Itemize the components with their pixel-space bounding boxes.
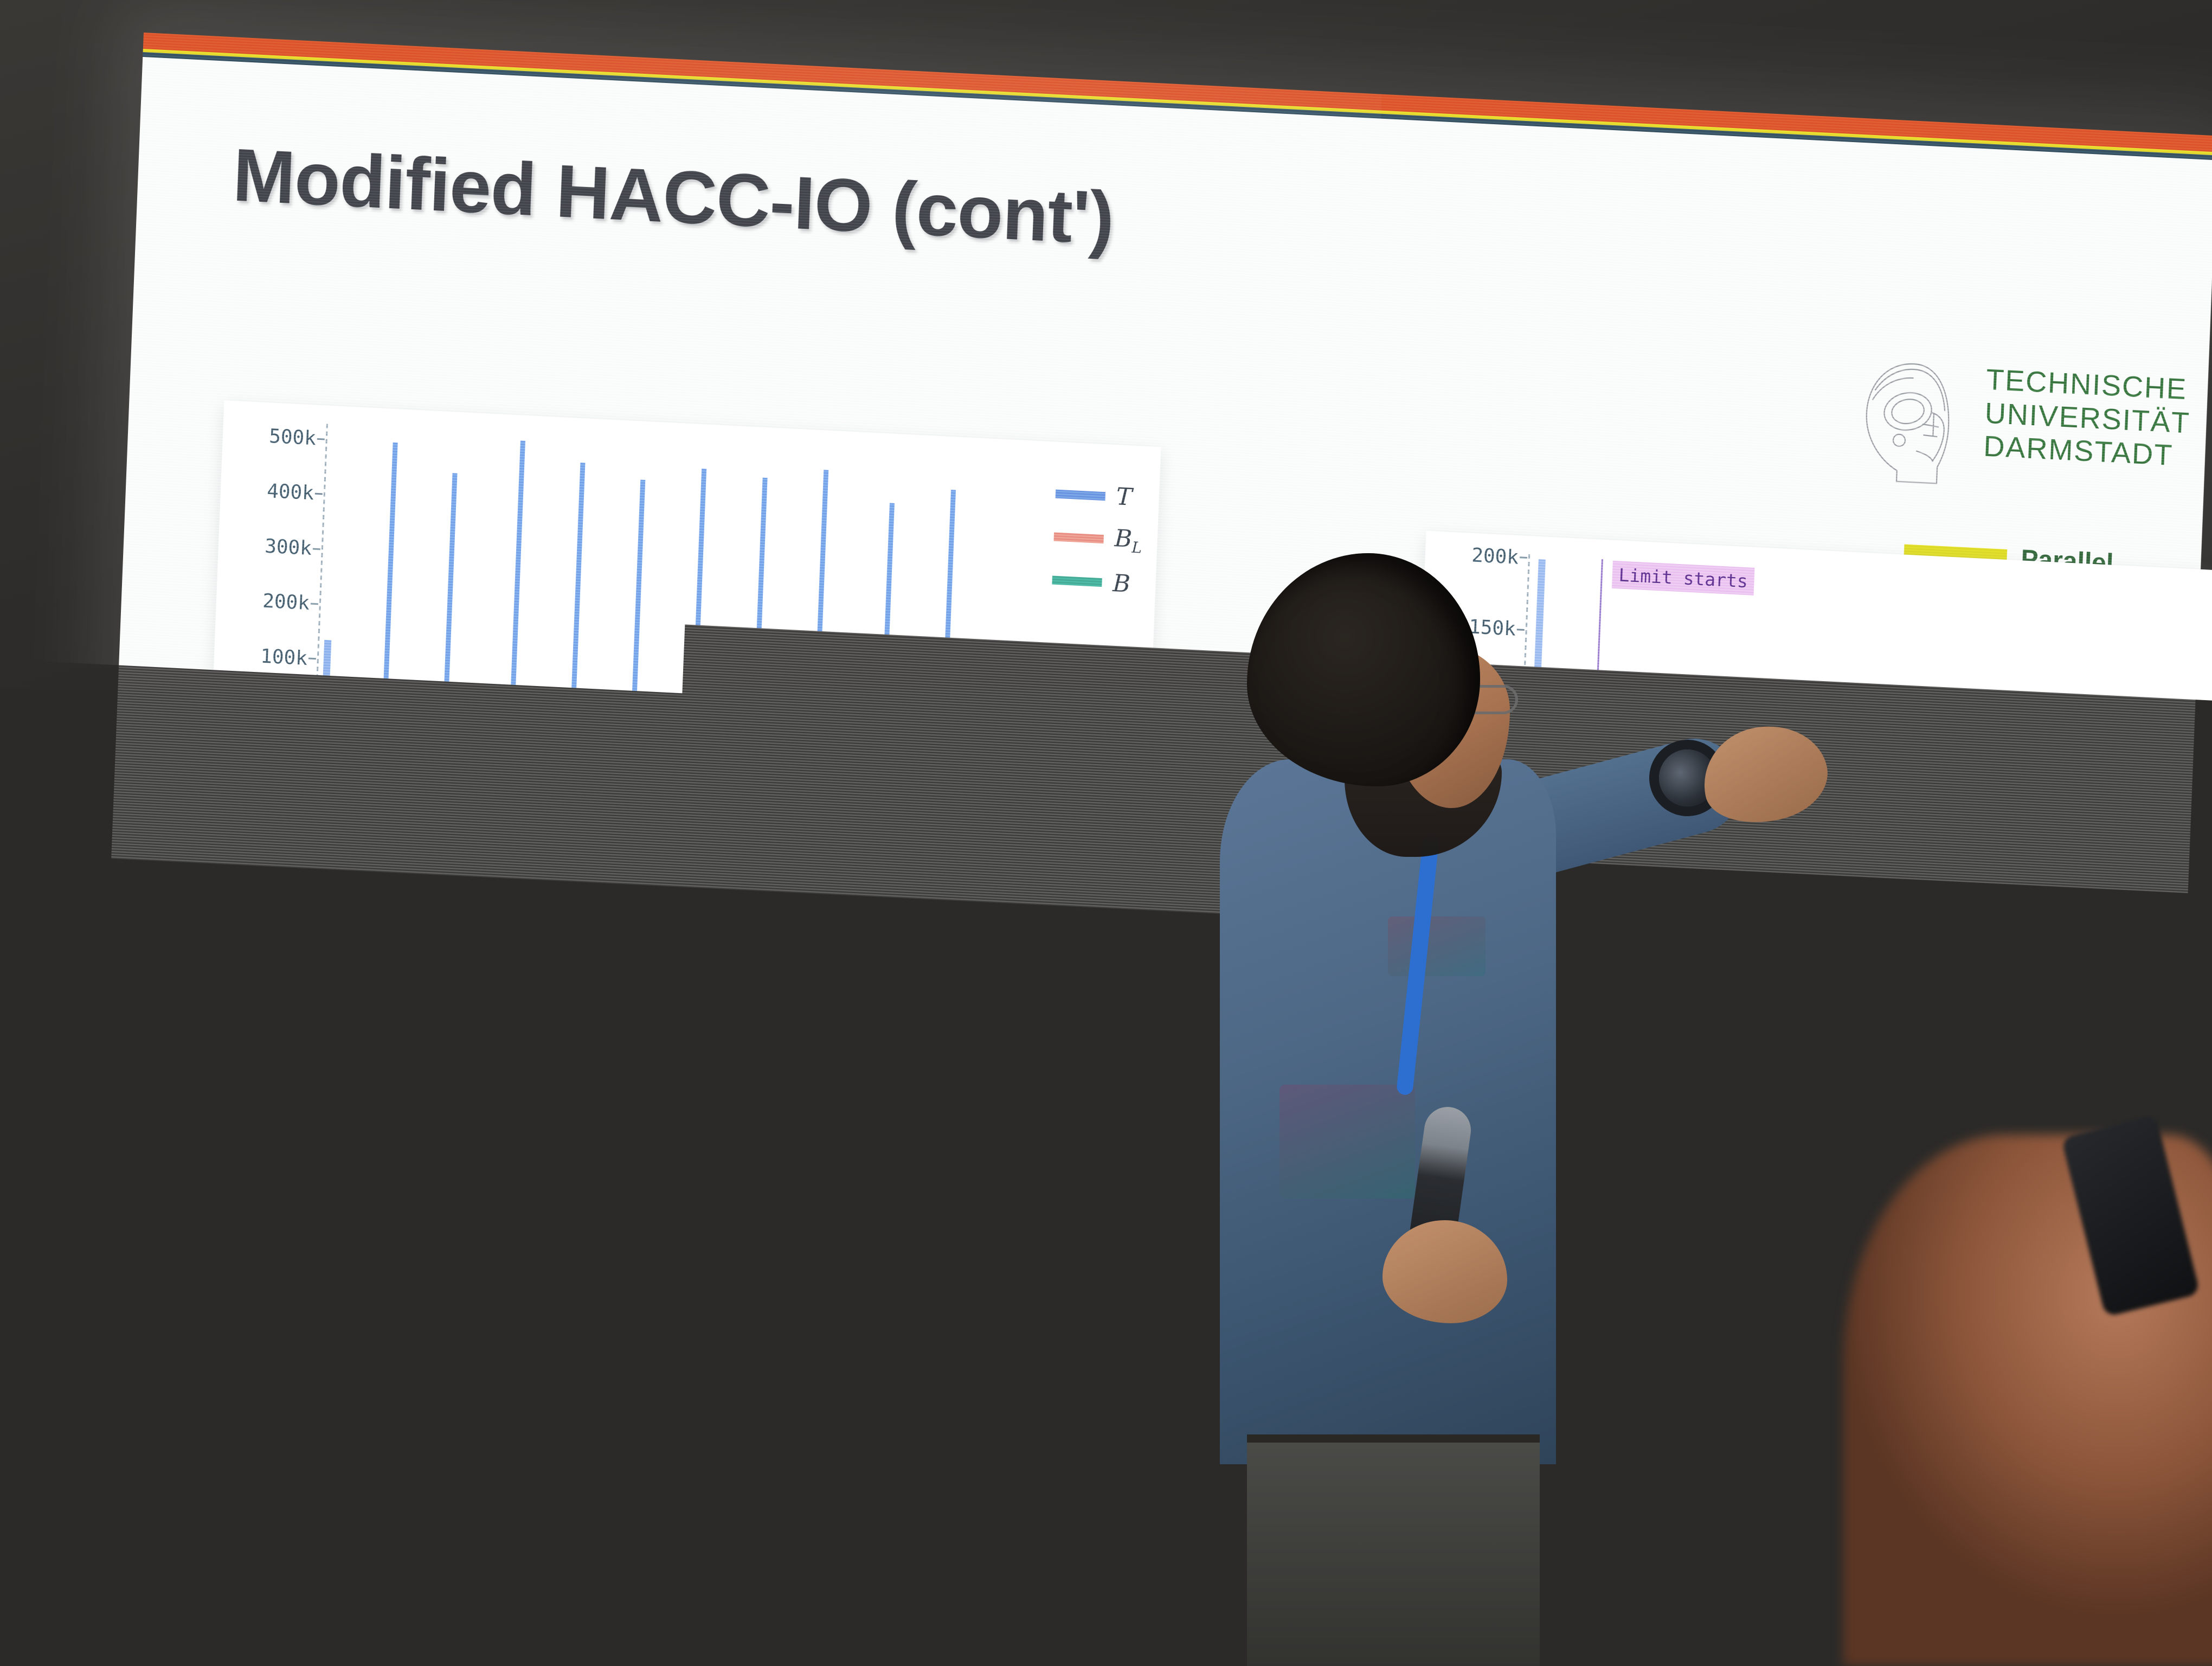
chart-tl-ytick-300k: 300k (264, 535, 321, 560)
athena-head-icon (1855, 357, 1969, 490)
page-title: Modified HACC-IO (cont') (232, 132, 1116, 262)
presenter-trousers (1247, 1443, 1540, 1666)
chart-bl-ytick-0: 0 (249, 1194, 272, 1217)
legend-label-b: B (1113, 569, 1131, 598)
tu-darmstadt-logo: TECHNISCHE UNIVERSITÄT DARMSTADT (1855, 357, 2192, 501)
chart-tl-ytick-200k: 200k (262, 590, 320, 615)
presenter-person (1182, 553, 1572, 1666)
legend-row-b: B (1052, 566, 1141, 598)
chart-tl-xtick-100: 100 (903, 779, 939, 803)
chart-tl-ytick-500k: 500k (268, 425, 326, 450)
accent-bar-orange (143, 33, 2212, 152)
chart-tr-xtick-60: 60 (1930, 901, 1954, 925)
room-background: Modified HACC-IO (cont') (0, 0, 2212, 1666)
audience-silhouette (965, 667, 1214, 1562)
presenter-shirt-pocket (1279, 1085, 1415, 1199)
chart-tl-ytick-0: 0 (293, 702, 315, 725)
presenter-hair (1247, 553, 1480, 786)
chart-tl-ytick-100k: 100k (260, 645, 318, 670)
legend-swatch-t-icon (1056, 489, 1106, 501)
presenter-shirt-pocket-upper (1388, 917, 1486, 976)
chart-bl-xtick-60: 60 (770, 1267, 794, 1290)
chart-bl-xtick-40: 40 (599, 1259, 623, 1282)
chart-tl-axes: 0 100k 200k 300k 400k 500k 20 40 60 80 1… (314, 428, 1025, 771)
chart-tr-xtick-80: 80 (2072, 908, 2096, 932)
chart-bl-ytick-100k: 100k (221, 1021, 278, 1046)
legend-swatch-b-icon (1052, 576, 1102, 587)
chart-tl-ytick-400k: 400k (266, 480, 324, 505)
legend-row-t: T (1055, 480, 1144, 512)
chart-tr-xtick-40: 40 (1787, 894, 1811, 918)
footer-talk-title: I/O Behind the Scenes: Bandwidth Require… (581, 1435, 1018, 1479)
legend-swatch-bl-icon (1054, 533, 1104, 544)
legend-row-bl: BL (1053, 522, 1143, 557)
legend-label-bl: BL (1114, 524, 1143, 556)
footer-date: 27 September 2024 (159, 1414, 336, 1446)
chart-tl-xtick-20: 20 (422, 755, 447, 779)
chart-tl-legend: T BL B (1052, 480, 1144, 599)
chart-bl-xtick-80: 80 (941, 1276, 966, 1299)
chart-bl-ytick-150k: 150k (224, 935, 281, 960)
chart-tr-xtick-100: 100 (2208, 915, 2212, 939)
chart-tl-xtick-80: 80 (787, 774, 812, 797)
chart-tl-xtick-40: 40 (544, 761, 568, 785)
chart-tl-xtick-60: 60 (666, 768, 690, 791)
tud-wordmark: TECHNISCHE UNIVERSITÄT DARMSTADT (1983, 363, 2192, 473)
legend-label-t: T (1116, 483, 1133, 511)
chart-bl-xtick-20: 20 (428, 1250, 452, 1273)
chart-br-xtick-20: 20 (1613, 1380, 1637, 1403)
chart-bl-ytick-50k: 50k (229, 1107, 275, 1131)
chart-br-xtick-40: 40 (1757, 1387, 1782, 1410)
